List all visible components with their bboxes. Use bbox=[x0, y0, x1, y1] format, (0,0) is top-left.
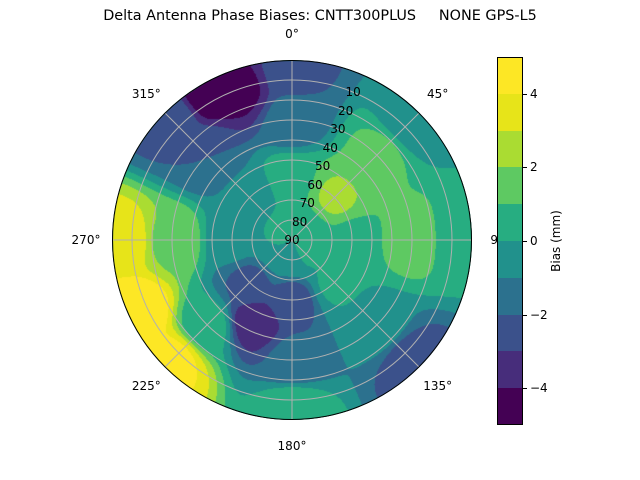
colorbar-band bbox=[497, 315, 523, 352]
colorbar-band bbox=[497, 351, 523, 388]
colorbar-tick-mark bbox=[523, 167, 527, 168]
colorbar-tick-label: 4 bbox=[530, 87, 538, 101]
colorbar-tick-label: 0 bbox=[530, 234, 538, 248]
colorbar-tick-mark bbox=[523, 388, 527, 389]
theta-tick-label-315: 315° bbox=[132, 87, 161, 101]
radial-tick-label-70: 70 bbox=[300, 196, 315, 210]
radial-tick-label-20: 20 bbox=[338, 104, 353, 118]
theta-tick-label-270: 270° bbox=[72, 233, 101, 247]
colorbar-band bbox=[497, 241, 523, 278]
colorbar-axis-label: Bias (mm) bbox=[549, 210, 563, 272]
radial-tick-label-40: 40 bbox=[323, 141, 338, 155]
radial-tick-label-80: 80 bbox=[292, 215, 307, 229]
theta-tick-label-180: 180° bbox=[278, 439, 307, 453]
colorbar-tick-label: 2 bbox=[530, 160, 538, 174]
theta-tick-label-0: 0° bbox=[285, 27, 299, 41]
colorbar-tick-label: −2 bbox=[530, 308, 548, 322]
page-title: Delta Antenna Phase Biases: CNTT300PLUS … bbox=[0, 8, 640, 24]
colorbar[interactable] bbox=[497, 57, 523, 425]
colorbar-tick-mark bbox=[523, 241, 527, 242]
colorbar-gradient bbox=[497, 57, 523, 425]
theta-tick-label-225: 225° bbox=[132, 379, 161, 393]
colorbar-band bbox=[497, 388, 523, 425]
colorbar-tick-label: −4 bbox=[530, 381, 548, 395]
colorbar-band bbox=[497, 278, 523, 315]
colorbar-band bbox=[497, 167, 523, 204]
colorbar-band bbox=[497, 131, 523, 168]
radial-tick-label-10: 10 bbox=[346, 85, 361, 99]
radial-tick-label-90: 90 bbox=[284, 233, 299, 247]
colorbar-tick-mark bbox=[523, 94, 527, 95]
radial-tick-label-30: 30 bbox=[330, 122, 345, 136]
colorbar-band bbox=[497, 94, 523, 131]
theta-tick-label-45: 45° bbox=[427, 87, 448, 101]
radial-tick-label-50: 50 bbox=[315, 159, 330, 173]
radial-tick-label-60: 60 bbox=[307, 178, 322, 192]
colorbar-band bbox=[497, 57, 523, 94]
figure-canvas: Delta Antenna Phase Biases: CNTT300PLUS … bbox=[0, 0, 640, 480]
theta-tick-label-135: 135° bbox=[423, 379, 452, 393]
colorbar-tick-mark bbox=[523, 315, 527, 316]
colorbar-band bbox=[497, 204, 523, 241]
